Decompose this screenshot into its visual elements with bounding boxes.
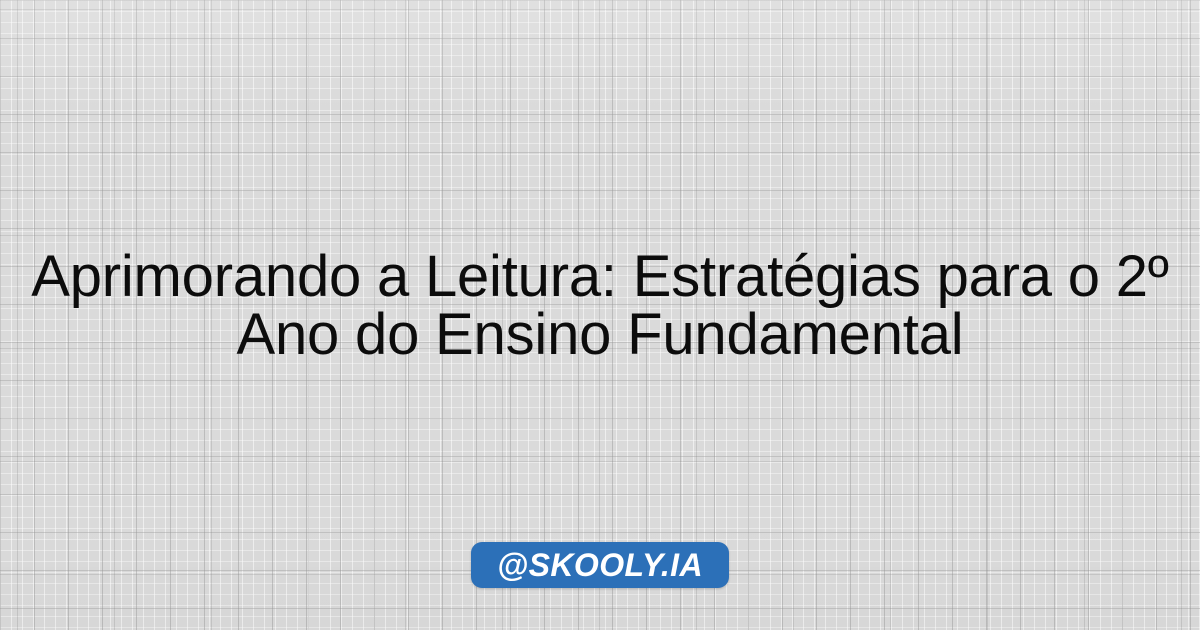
page-title: Aprimorando a Leitura: Estratégias para … — [18, 248, 1182, 364]
handle-badge[interactable]: @SKOOLY.IA — [471, 542, 729, 588]
handle-badge-label: @SKOOLY.IA — [497, 549, 703, 581]
handle-badge-wrap: @SKOOLY.IA — [0, 542, 1200, 588]
social-share-card: Aprimorando a Leitura: Estratégias para … — [0, 0, 1200, 630]
title-block: Aprimorando a Leitura: Estratégias para … — [0, 248, 1200, 364]
